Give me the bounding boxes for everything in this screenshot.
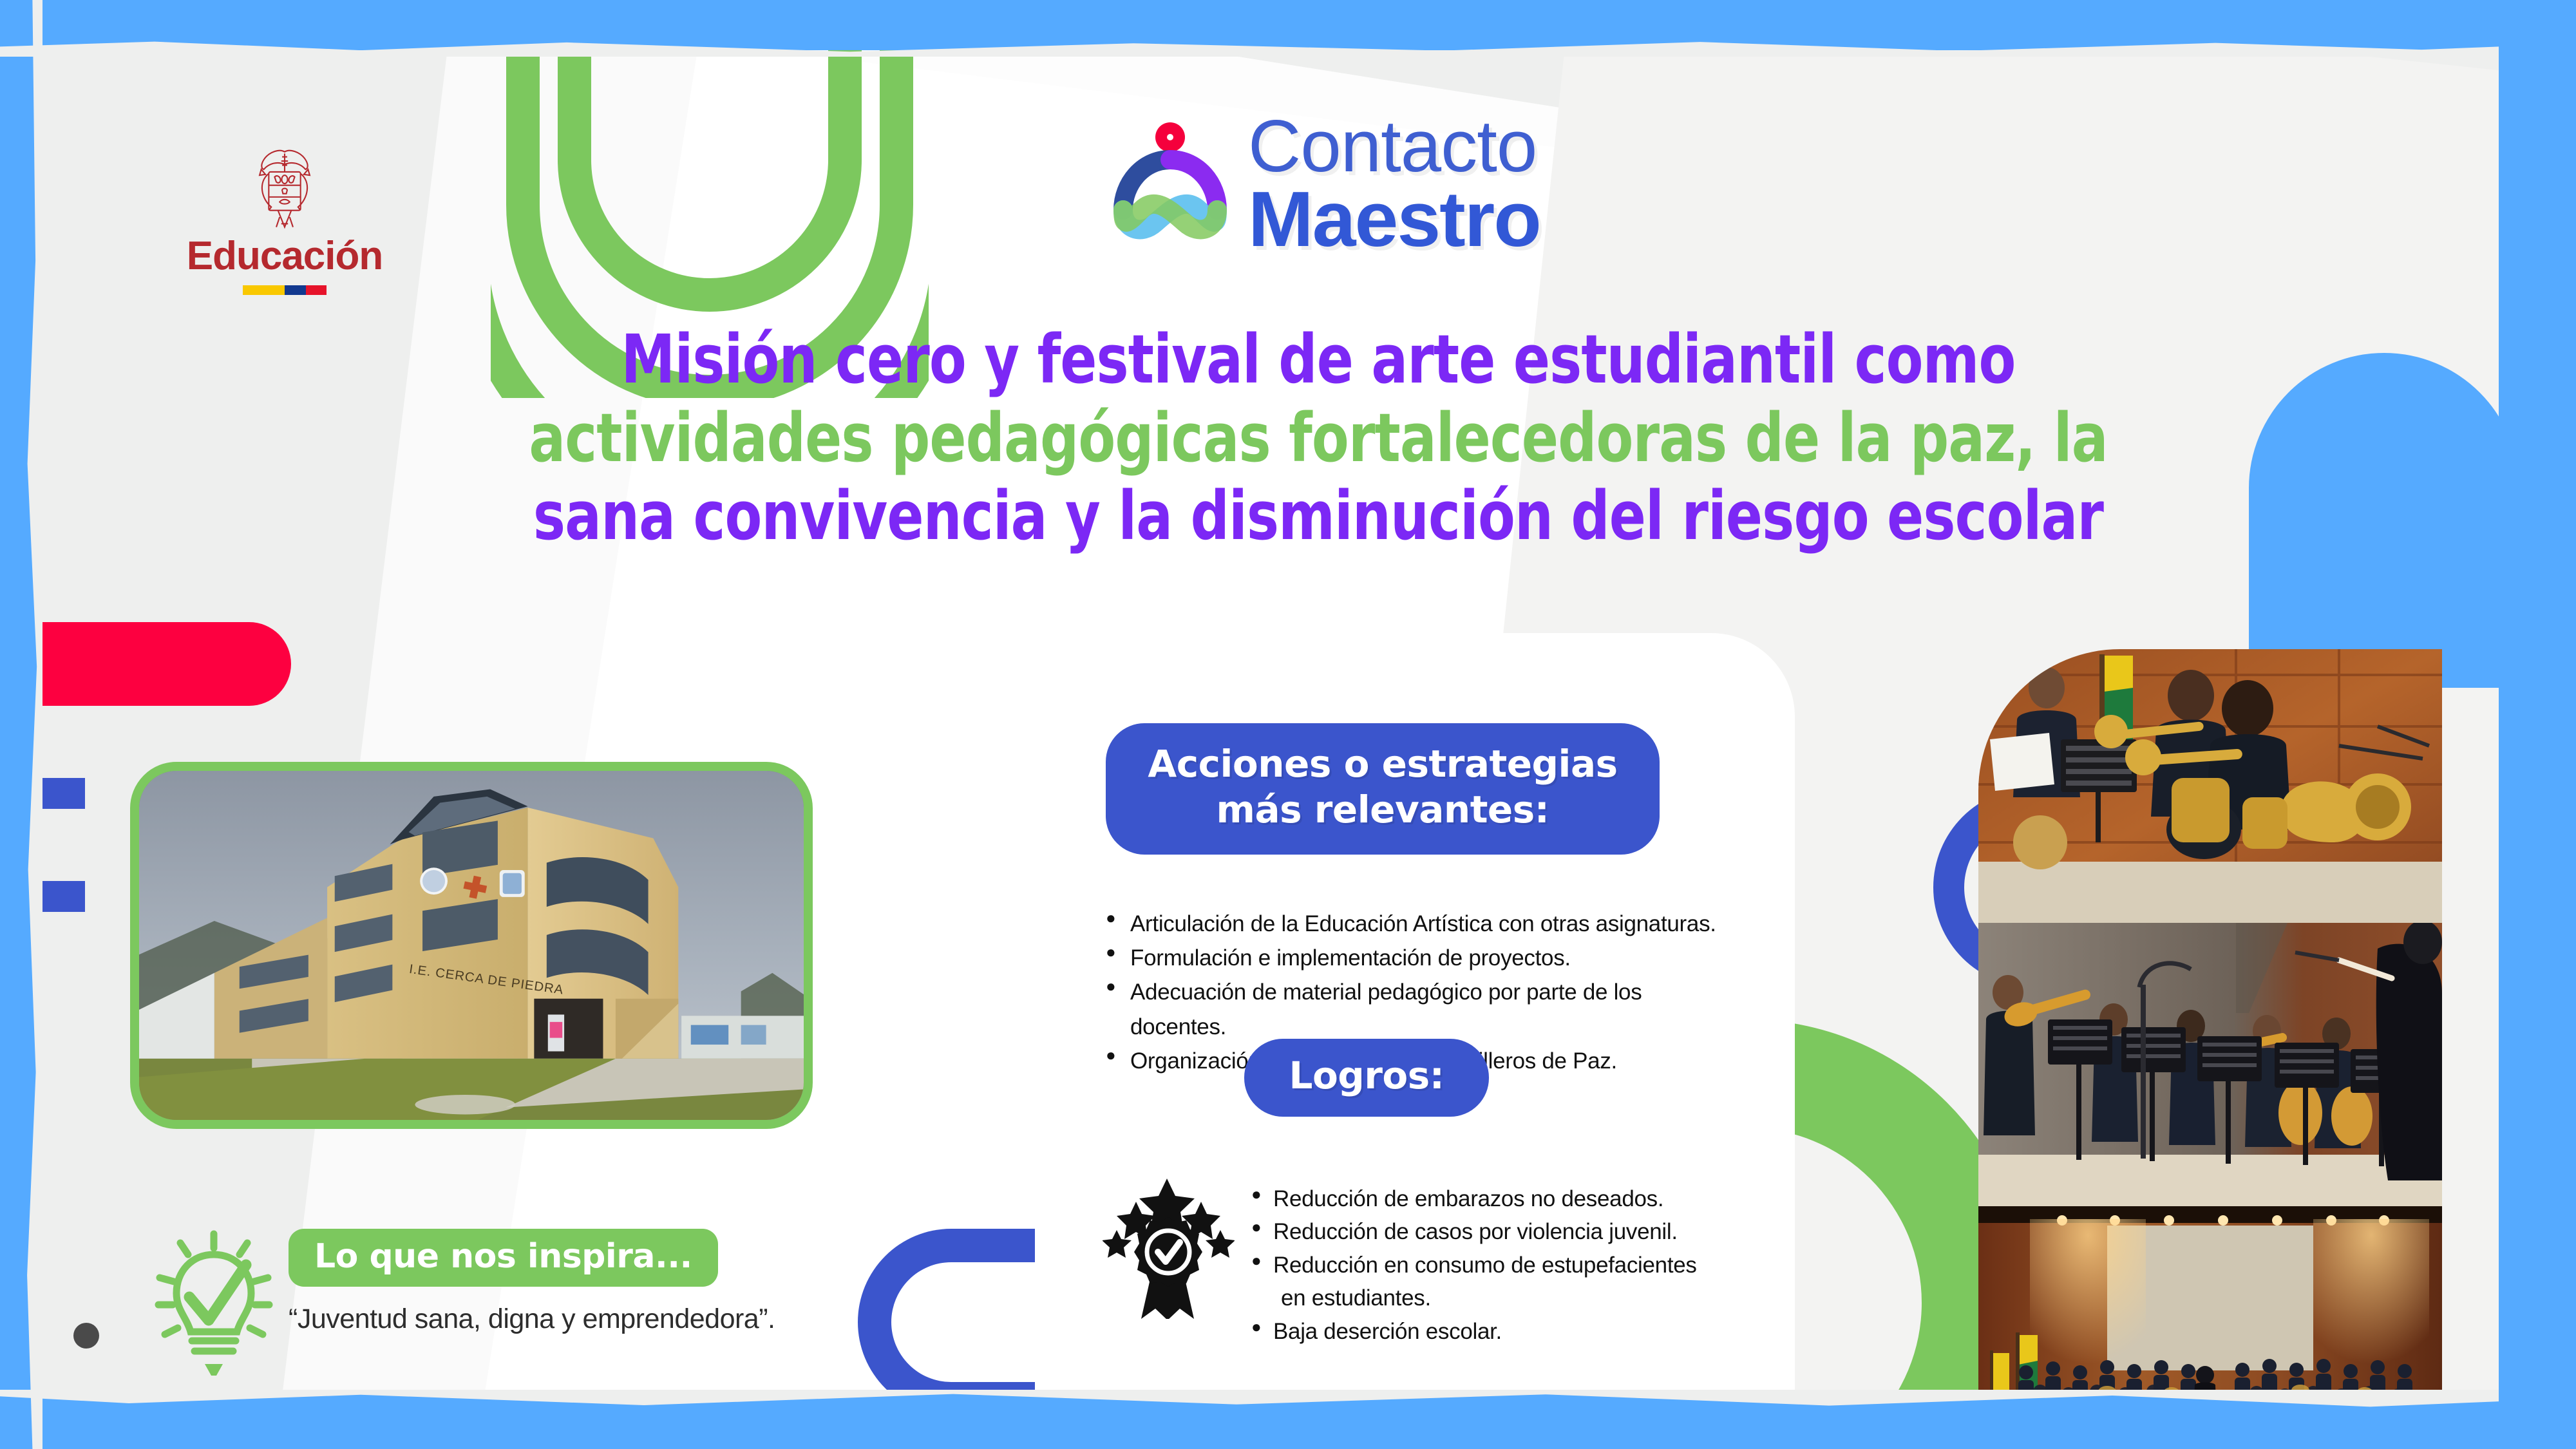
contacto-maestro-logo-icon xyxy=(1109,120,1231,249)
title-line-3: sana convivencia y la disminución del ri… xyxy=(359,477,2278,556)
list-item: Reducción en consumo de estupefacientese… xyxy=(1251,1249,1785,1315)
orchestra-brass-section-photo xyxy=(1978,649,2442,923)
frame-brush-top xyxy=(0,40,2576,57)
list-item: Reducción de casos por violencia juvenil… xyxy=(1251,1215,1785,1248)
brand-line-1: Contacto xyxy=(1248,111,1540,182)
blue-square-decor-1 xyxy=(40,778,85,809)
blue-square-decor-2 xyxy=(40,881,85,912)
list-item: Adecuación de material pedagógico por pa… xyxy=(1106,975,1743,1043)
logros-item-continuation: en estudiantes. xyxy=(1273,1282,1785,1314)
actions-badge-line-1: Acciones o estrategias xyxy=(1119,741,1647,787)
inspire-section: Lo que nos inspira... “Juventud sana, di… xyxy=(149,1203,800,1388)
logros-list: Reducción de embarazos no deseados. Redu… xyxy=(1251,1171,1785,1348)
page-title: Misión cero y festival de arte estudiant… xyxy=(359,321,2278,556)
list-item: Articulación de la Educación Artística c… xyxy=(1106,907,1743,941)
corner-handle-dot xyxy=(73,1323,99,1349)
logros-item-text: Reducción de embarazos no deseados. xyxy=(1273,1186,1663,1211)
logros-item-text: Baja deserción escolar. xyxy=(1273,1319,1502,1344)
list-item: Reducción de embarazos no deseados. xyxy=(1251,1182,1785,1215)
colombia-flag-bar xyxy=(243,285,327,295)
logros-badge: Logros: xyxy=(1244,1039,1489,1117)
ministry-logo-word: Educación xyxy=(178,236,391,276)
poster-canvas: Educación Contacto Maestro xyxy=(40,50,2519,1392)
title-line-1: Misión cero y festival de arte estudiant… xyxy=(359,321,2278,399)
center-content-card: Acciones o estrategias más relevantes: A… xyxy=(1035,633,1795,1392)
lightbulb-check-icon xyxy=(149,1215,278,1388)
title-line-2: actividades pedagógicas fortalecedoras d… xyxy=(359,399,2278,478)
orchestra-strings-conductor-photo xyxy=(1978,923,2442,1206)
brand-contacto-maestro: Contacto Maestro xyxy=(1109,111,1540,258)
ministry-education-logo: Educación xyxy=(178,147,391,295)
brand-line-2: Maestro xyxy=(1248,182,1540,257)
actions-badge: Acciones o estrategias más relevantes: xyxy=(1106,723,1660,855)
poster-root: Educación Contacto Maestro xyxy=(0,0,2576,1449)
list-item: Formulación e implementación de proyecto… xyxy=(1106,941,1743,975)
photo-strip xyxy=(1978,649,2442,1392)
orchestra-full-stage-photo xyxy=(1978,1206,2442,1392)
frame-brush-left xyxy=(26,0,43,1449)
school-building-photo: I.E. CERCA DE PIEDRA xyxy=(130,762,813,1129)
logros-item-text: Reducción de casos por violencia juvenil… xyxy=(1273,1219,1678,1244)
colombia-coat-of-arms-icon xyxy=(243,147,327,234)
blue-dome-decor xyxy=(2249,353,2519,688)
red-pill-decor xyxy=(40,622,291,706)
list-item: Baja deserción escolar. xyxy=(1251,1315,1785,1348)
logros-item-text: Reducción en consumo de estupefacientes xyxy=(1273,1253,1697,1278)
actions-badge-line-2: más relevantes: xyxy=(1119,787,1647,833)
inspire-quote: “Juventud sana, digna y emprendedora”. xyxy=(289,1303,800,1335)
frame-right-bar xyxy=(2499,0,2576,1449)
frame-brush-bottom xyxy=(0,1390,2576,1409)
logros-section: Reducción de embarazos no deseados. Redu… xyxy=(1103,1171,1785,1348)
award-ribbon-check-icon xyxy=(1103,1171,1235,1319)
inspire-badge: Lo que nos inspira... xyxy=(289,1229,718,1287)
